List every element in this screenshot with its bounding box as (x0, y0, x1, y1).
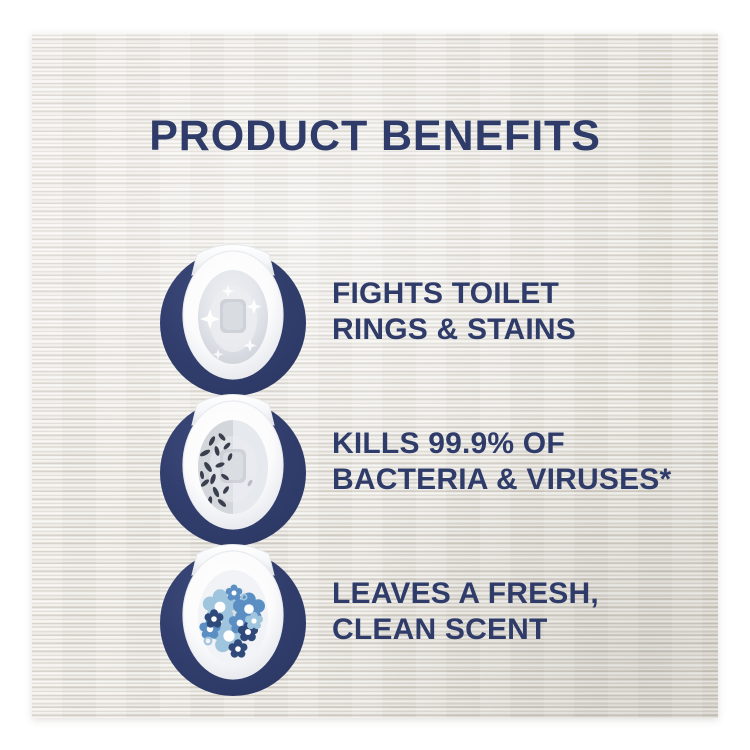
toilet-bowl-germs-icon (150, 387, 315, 537)
benefit-row: KILLS 99.9% OF BACTERIA & VIRUSES* (150, 387, 690, 537)
toilet-bowl-sparkle-icon (150, 237, 315, 387)
benefit-label: KILLS 99.9% OF BACTERIA & VIRUSES* (332, 426, 671, 498)
toilet-bowl-illustration (150, 537, 315, 687)
benefit-row: LEAVES A FRESH, CLEAN SCENT (150, 537, 690, 687)
benefit-label: LEAVES A FRESH, CLEAN SCENT (332, 576, 599, 648)
product-benefits-graphic: PRODUCT BENEFITS (0, 0, 750, 750)
toilet-bowl-illustration (150, 237, 315, 387)
benefit-row: FIGHTS TOILET RINGS & STAINS (150, 237, 690, 387)
page-title: PRODUCT BENEFITS (0, 115, 750, 158)
benefit-label: FIGHTS TOILET RINGS & STAINS (332, 276, 576, 348)
toilet-bowl-flowers-icon (150, 537, 315, 687)
toilet-bowl-illustration (150, 387, 315, 537)
